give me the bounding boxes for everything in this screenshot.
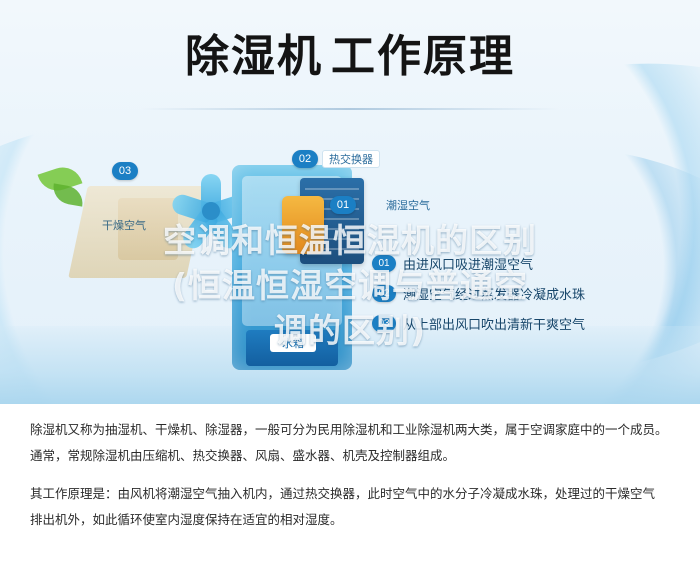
badge-02: 02 bbox=[292, 150, 318, 168]
step-text: 从上部出风口吹出清新干爽空气 bbox=[403, 314, 585, 333]
heat-exchanger-label: 热交换器 bbox=[322, 150, 380, 168]
title-part-1: 除湿机 bbox=[185, 31, 323, 82]
water-tank-label: 水箱 bbox=[270, 334, 316, 352]
list-item: 01 由进风口吸进潮湿空气 bbox=[372, 254, 672, 273]
step-list: 01 由进风口吸进潮湿空气 02 潮湿空气经过蒸发器冷凝成水珠 03 从上部出风… bbox=[372, 254, 672, 344]
step-text: 由进风口吸进潮湿空气 bbox=[403, 254, 533, 273]
step-number: 02 bbox=[372, 285, 396, 302]
badge-01: 01 bbox=[330, 196, 356, 214]
compressor-unit bbox=[282, 196, 324, 254]
badge-03: 03 bbox=[112, 162, 138, 180]
paragraph-2-line-2: 排出机外，如此循环使室内湿度保持在适宜的相对湿度。 bbox=[30, 508, 670, 532]
page-root: 除湿机工作原理 水箱 03 02 bbox=[0, 0, 700, 566]
paragraph-2-line-1: 其工作原理是：由风机将潮湿空气抽入机内，通过热交换器，此时空气中的水分子冷凝成水… bbox=[30, 482, 670, 506]
step-number: 01 bbox=[372, 255, 396, 272]
dry-air-label: 干燥空气 bbox=[96, 216, 152, 234]
list-item: 02 潮湿空气经过蒸发器冷凝成水珠 bbox=[372, 284, 672, 303]
title-divider bbox=[140, 108, 560, 110]
step-text: 潮湿空气经过蒸发器冷凝成水珠 bbox=[403, 284, 585, 303]
paragraph-1-line-1: 除湿机又称为抽湿机、干燥机、除湿器，一般可分为民用除湿机和工业除湿机两大类，属于… bbox=[30, 418, 670, 442]
infographic-panel: 除湿机工作原理 水箱 03 02 bbox=[0, 0, 700, 404]
step-number: 03 bbox=[372, 315, 396, 332]
article-body: 除湿机又称为抽湿机、干燥机、除湿器，一般可分为民用除湿机和工业除湿机两大类，属于… bbox=[30, 418, 670, 534]
infographic-title: 除湿机工作原理 bbox=[0, 26, 700, 88]
wet-air-label: 潮湿空气 bbox=[380, 196, 436, 214]
title-part-2: 工作原理 bbox=[331, 31, 515, 82]
list-item: 03 从上部出风口吹出清新干爽空气 bbox=[372, 314, 672, 333]
paragraph-1-line-2: 通常，常规除湿机由压缩机、热交换器、风扇、盛水器、机壳及控制器组成。 bbox=[30, 444, 670, 468]
